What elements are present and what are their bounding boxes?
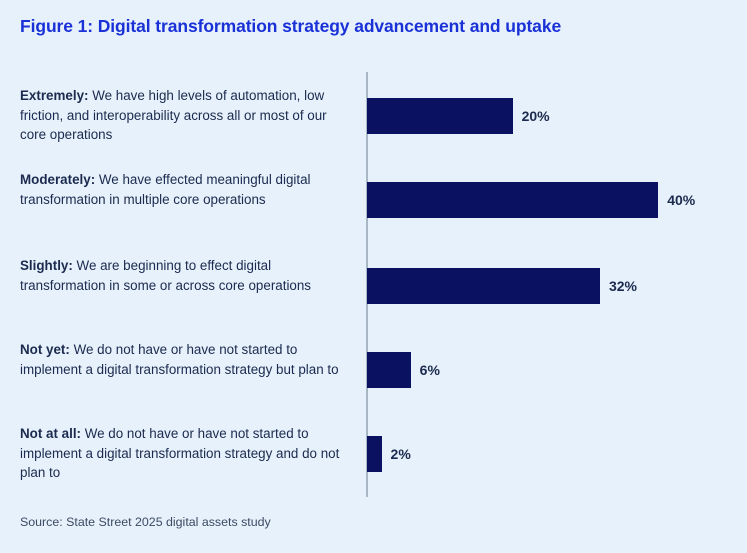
bar-category-term: Slightly: (20, 258, 73, 273)
bar-category-term: Extremely: (20, 88, 88, 103)
source-note: Source: State Street 2025 digital assets… (20, 515, 271, 529)
chart-plot-area: Extremely: We have high levels of automa… (0, 60, 747, 505)
bar-row: Slightly: We are beginning to effect dig… (0, 256, 747, 336)
bar-value-label: 2% (391, 436, 411, 472)
bar-value-label: 40% (667, 182, 695, 218)
bar-row: Extremely: We have high levels of automa… (0, 86, 747, 166)
figure-container: Figure 1: Digital transformation strateg… (0, 0, 747, 553)
bar-category-term: Not yet: (20, 342, 70, 357)
bar-category-label: Not at all: We do not have or have not s… (20, 424, 350, 483)
bar[interactable] (367, 268, 600, 304)
bar-category-term: Moderately: (20, 172, 95, 187)
page-title: Figure 1: Digital transformation strateg… (20, 16, 561, 37)
bar-category-label: Not yet: We do not have or have not star… (20, 340, 350, 379)
bar-category-label: Extremely: We have high levels of automa… (20, 86, 350, 145)
bar-row: Not yet: We do not have or have not star… (0, 340, 747, 420)
bar-value-label: 20% (522, 98, 550, 134)
bar-category-term: Not at all: (20, 426, 81, 441)
bar-value-label: 6% (420, 352, 440, 388)
bar-value-label: 32% (609, 268, 637, 304)
bar[interactable] (367, 182, 658, 218)
bar-category-label: Moderately: We have effected meaningful … (20, 170, 350, 209)
bar[interactable] (367, 352, 411, 388)
bar-row: Not at all: We do not have or have not s… (0, 424, 747, 504)
bar[interactable] (367, 436, 382, 472)
bar[interactable] (367, 98, 513, 134)
bar-row: Moderately: We have effected meaningful … (0, 170, 747, 250)
bar-category-label: Slightly: We are beginning to effect dig… (20, 256, 350, 295)
